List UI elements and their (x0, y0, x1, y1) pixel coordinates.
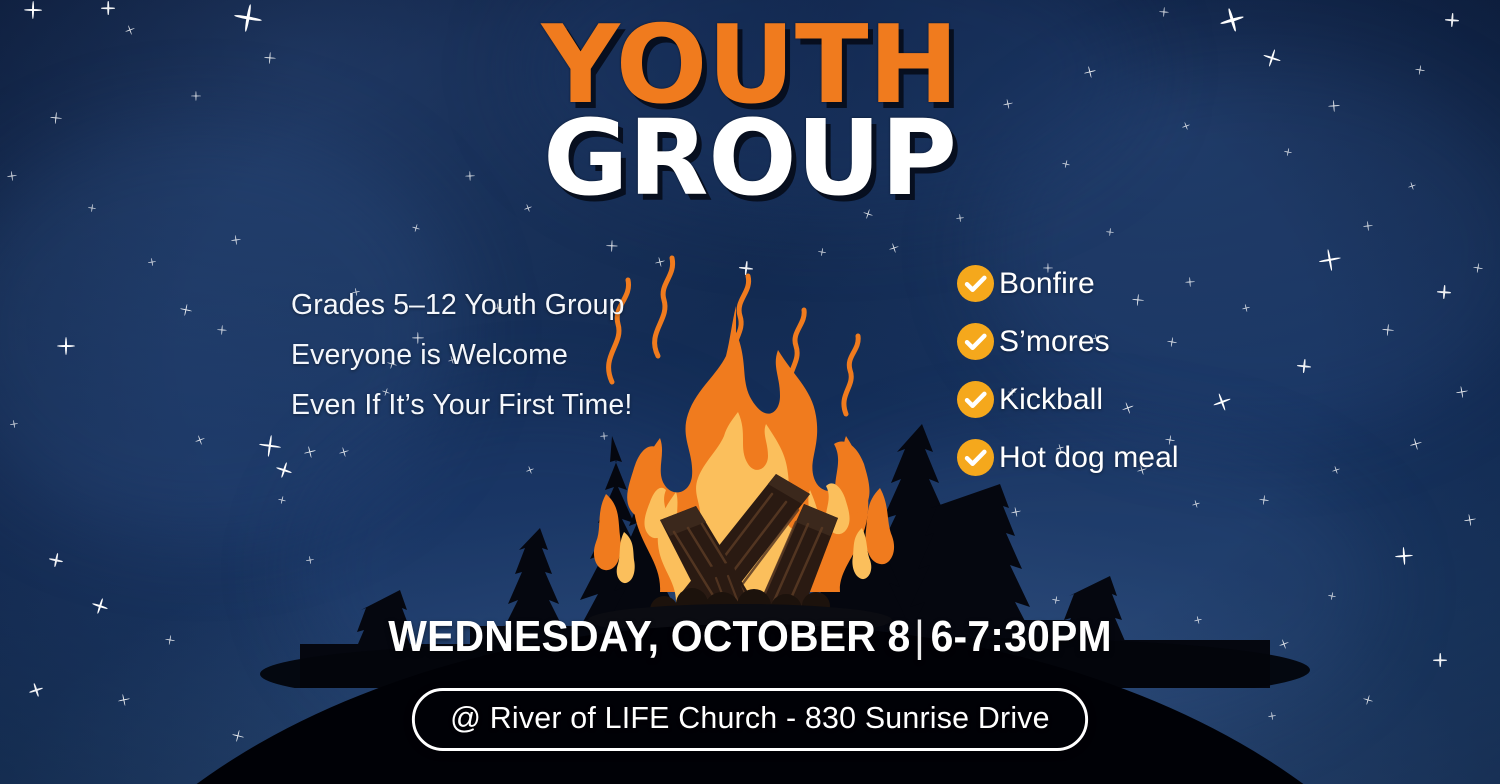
page-title: YOUTH GROUP (0, 16, 1500, 207)
youth-group-flyer: YOUTH GROUP Grades 5–12 Youth Group Ever… (0, 0, 1500, 784)
checklist-item-label: Bonfire (999, 269, 1095, 299)
datetime-separator: | (914, 612, 925, 662)
list-item: Kickball (957, 380, 1179, 419)
list-item: S’mores (957, 322, 1179, 361)
event-location: @ River of LIFE Church - 830 Sunrise Dri… (412, 688, 1088, 751)
checklist-item-label: Hot dog meal (999, 443, 1179, 473)
activities-checklist: Bonfire S’mores Kickball (957, 264, 1179, 496)
event-description: Grades 5–12 Youth Group Everyone is Welc… (291, 280, 632, 430)
list-item: Hot dog meal (957, 438, 1179, 477)
location-pill-wrapper: @ River of LIFE Church - 830 Sunrise Dri… (0, 688, 1500, 751)
check-circle-icon (957, 381, 994, 418)
event-date: WEDNESDAY, OCTOBER 8 (388, 612, 910, 661)
check-circle-icon (957, 265, 994, 302)
event-datetime: WEDNESDAY, OCTOBER 8|6-7:30PM (53, 612, 1448, 662)
list-item: Bonfire (957, 264, 1179, 303)
checklist-item-label: S’mores (999, 327, 1110, 357)
check-circle-icon (957, 323, 994, 360)
event-time: 6-7:30PM (931, 612, 1112, 661)
description-line-2: Everyone is Welcome (291, 330, 632, 380)
description-line-1: Grades 5–12 Youth Group (291, 280, 632, 330)
checklist-item-label: Kickball (999, 385, 1103, 415)
description-line-3: Even If It’s Your First Time! (291, 380, 632, 430)
headline-line-group: GROUP (0, 110, 1500, 207)
check-circle-icon (957, 439, 994, 476)
